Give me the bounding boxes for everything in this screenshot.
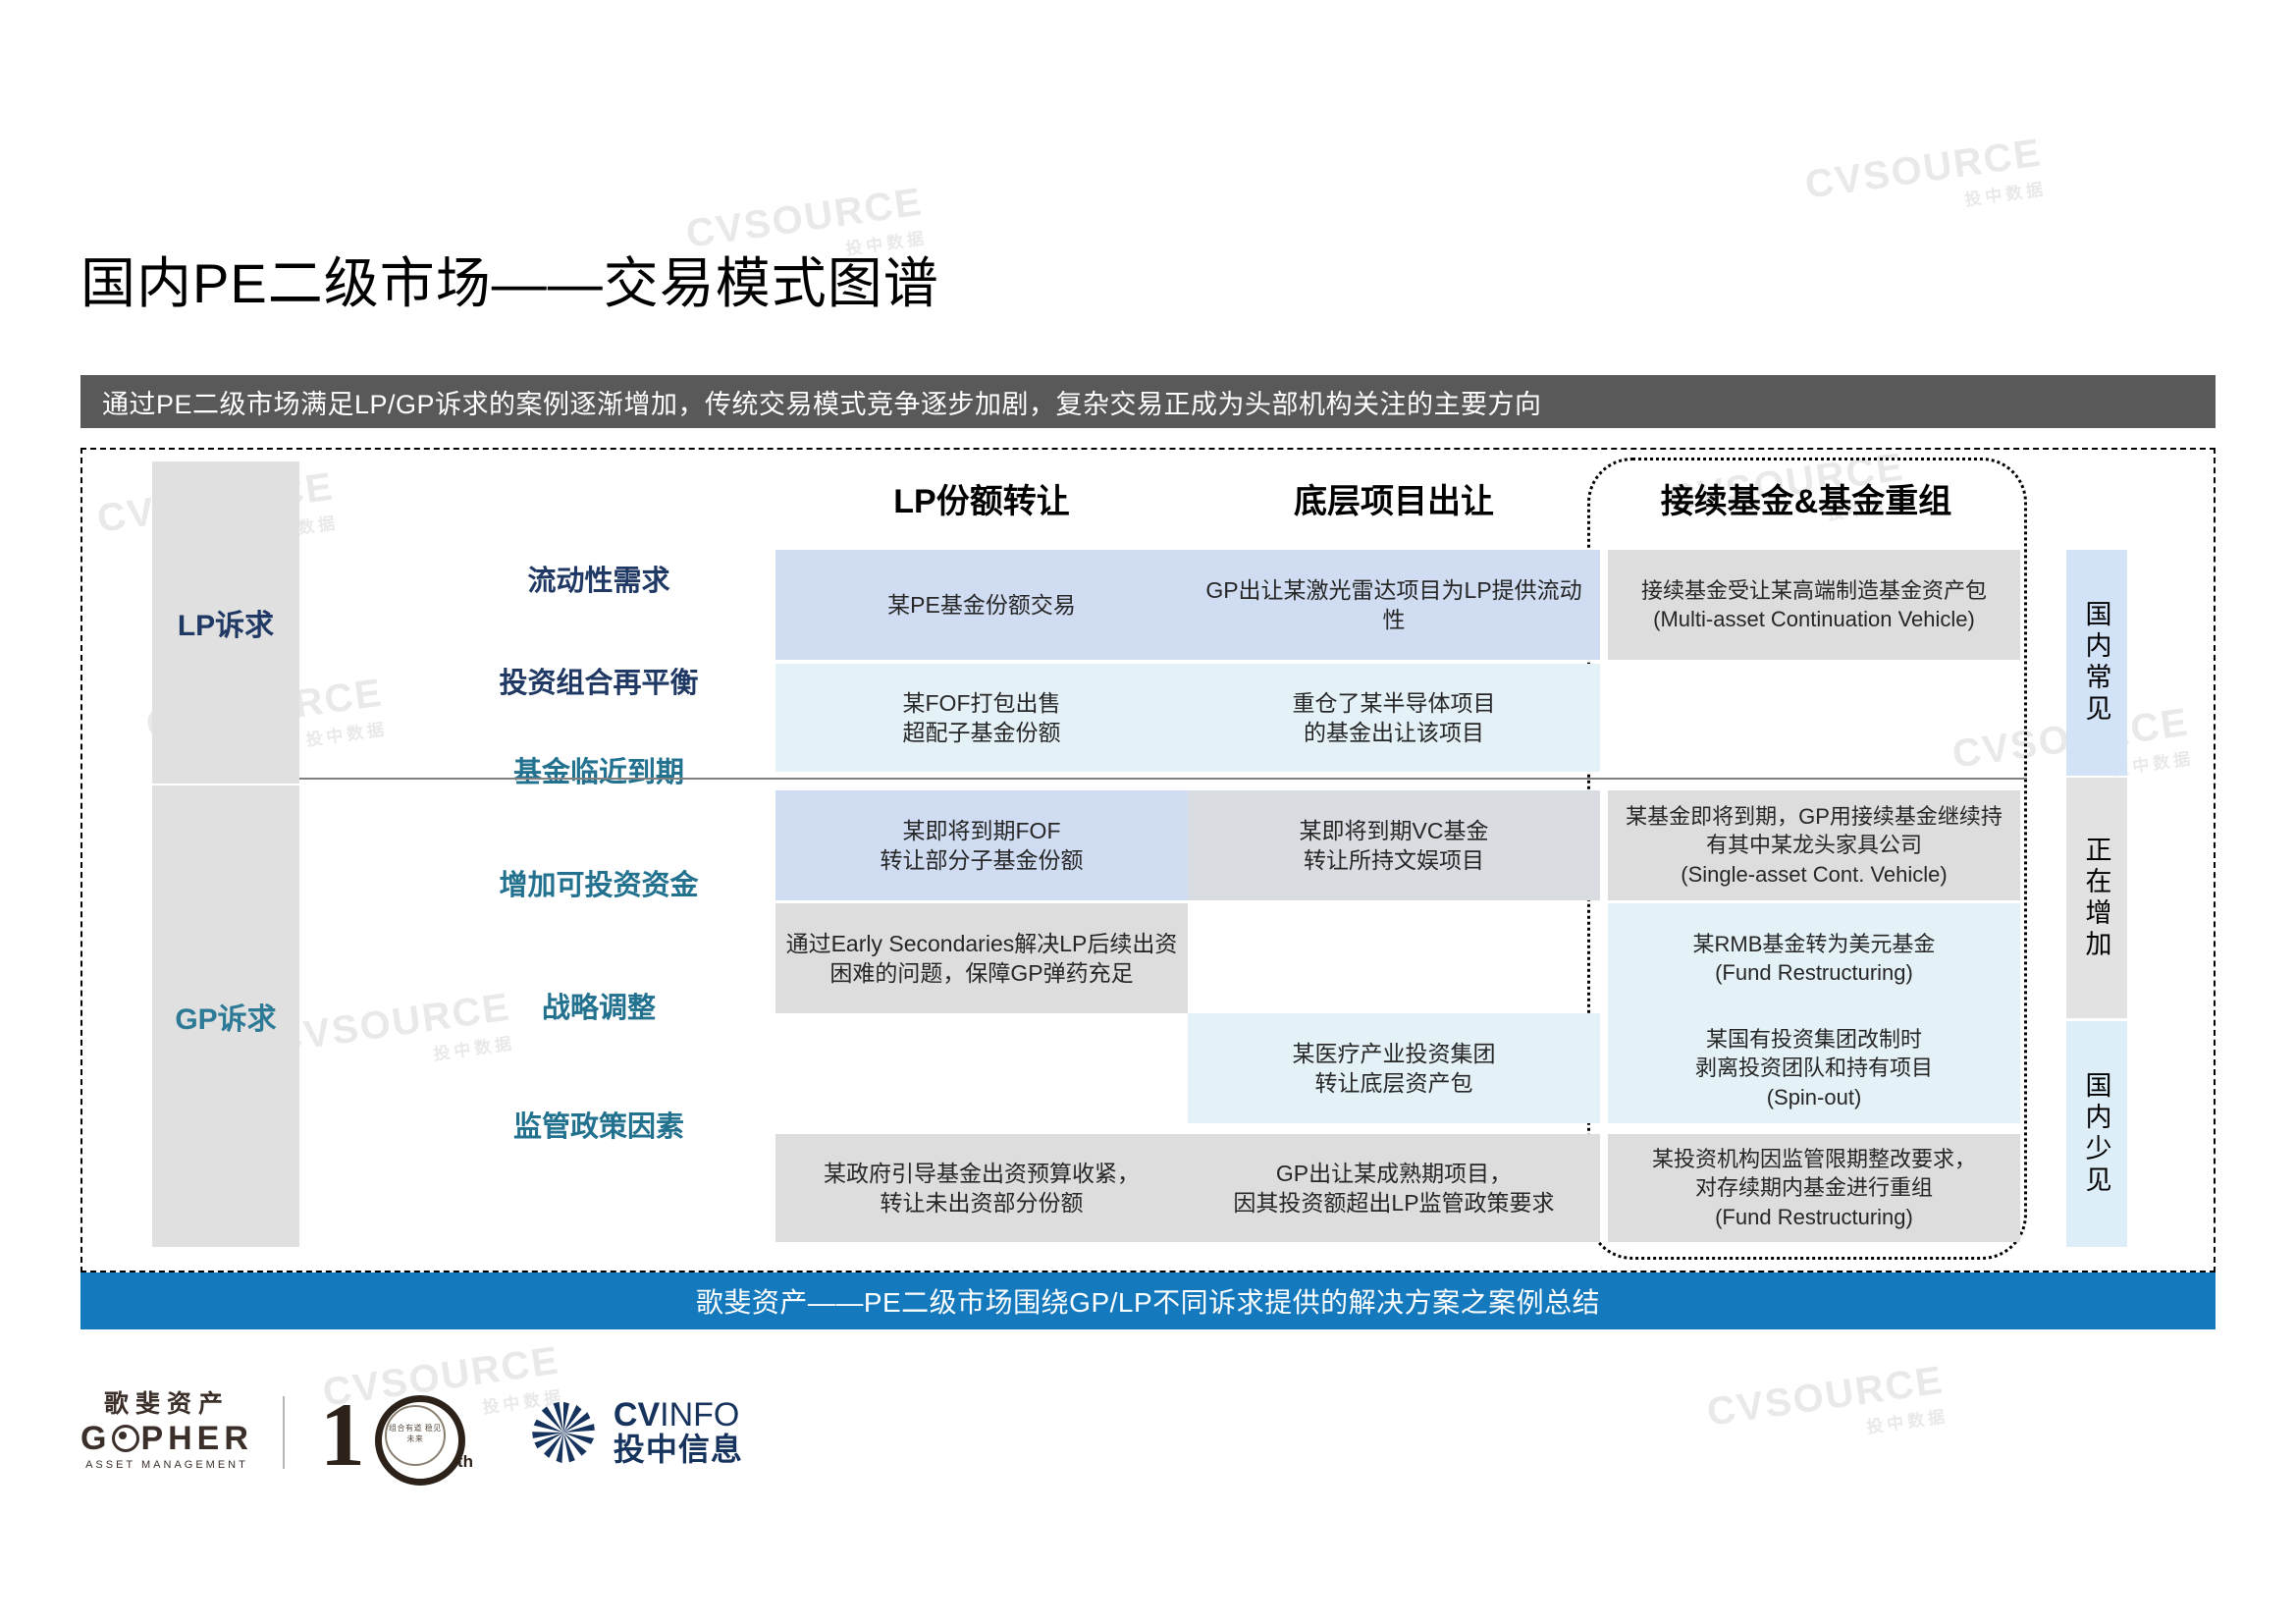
cell-lp-liquidity-col1[interactable]: 某PE基金份额交易 xyxy=(775,550,1188,660)
frequency-label-increasing: 正在增加 xyxy=(2066,778,2127,1018)
section-label-lp-text: LP诉求 xyxy=(178,601,274,644)
gopher-logo-en-left: G xyxy=(80,1419,111,1459)
subtitle-text: 通过PE二级市场满足LP/GP诉求的案例逐渐增加，传统交易模式竞争逐步加剧，复杂… xyxy=(102,383,1542,421)
cvinfo-burst-icon xyxy=(527,1396,600,1469)
row-label-liquidity-demand: 流动性需求 xyxy=(422,558,775,599)
row-label-portfolio-rebalance: 投资组合再平衡 xyxy=(422,660,775,701)
watermark-brand-cn: 投中数据 xyxy=(1809,175,2049,233)
cell-lp-liquidity-col2[interactable]: GP出让某激光雷达项目为LP提供流动性 xyxy=(1188,550,1600,660)
logo-divider xyxy=(283,1396,285,1469)
section-label-lp: LP诉求 xyxy=(152,461,299,784)
cell-gp-maturity-col2[interactable]: 某即将到期VC基金转让所持文娱项目 xyxy=(1188,790,1600,900)
watermark: CVSOURCE 投中数据 xyxy=(1704,1358,1949,1459)
row-label-strategy-adjust: 战略调整 xyxy=(422,985,775,1026)
page-title: 国内PE二级市场——交易模式图谱 xyxy=(80,253,939,314)
gopher-o-icon xyxy=(112,1425,139,1452)
cell-lp-rebalance-col1[interactable]: 某FOF打包出售超配子基金份额 xyxy=(775,664,1188,772)
cvinfo-logo-en-thin: INFO xyxy=(660,1396,739,1434)
anniversary-suffix: th xyxy=(457,1452,473,1472)
watermark-brand-cn: 投中数据 xyxy=(1711,1402,1950,1460)
row-label-regulatory-policy: 监管政策因素 xyxy=(422,1104,775,1145)
cvinfo-logo-cn: 投中信息 xyxy=(614,1434,743,1467)
bottom-banner: 歌斐资产——PE二级市场围绕GP/LP不同诉求提供的解决方案之案例总结 xyxy=(80,1272,2216,1329)
gopher-logo-en-right: PHER xyxy=(140,1419,252,1459)
section-divider xyxy=(299,778,2027,780)
row-label-increase-capital: 增加可投资资金 xyxy=(422,862,775,903)
cell-gp-maturity-col3[interactable]: 某基金即将到期，GP用接续基金继续持有其中某龙头家具公司(Single-asse… xyxy=(1608,790,2020,900)
cvinfo-logo: CVINFO 投中信息 xyxy=(527,1396,743,1469)
cell-gp-capital-col1[interactable]: 通过Early Secondaries解决LP后续出资困难的问题，保障GP弹药充… xyxy=(775,903,1188,1013)
gopher-logo-en: G PHER xyxy=(80,1419,253,1459)
cvinfo-logo-en-bold: CV xyxy=(614,1396,660,1434)
gopher-logo-cn: 歌斐资产 xyxy=(104,1391,230,1419)
column-header-lp-share-transfer: LP份额转让 xyxy=(775,474,1188,522)
section-label-gp: GP诉求 xyxy=(152,785,299,1247)
footer-logos: 歌斐资产 G PHER ASSET MANAGEMENT 1 组合有道 稳见未来… xyxy=(80,1379,743,1487)
cell-gp-regulatory-col3[interactable]: 某投资机构因监管限期整改要求，对存续期内基金进行重组(Fund Restruct… xyxy=(1608,1134,2020,1242)
cell-gp-regulatory-col1[interactable]: 某政府引导基金出资预算收紧，转让未出资部分份额 xyxy=(775,1134,1188,1242)
watermark-brand: CVSOURCE xyxy=(1802,131,2045,207)
cell-gp-regulatory-col2[interactable]: GP出让某成熟期项目，因其投资额超出LP监管政策要求 xyxy=(1188,1134,1600,1242)
bottom-banner-text: 歌斐资产——PE二级市场围绕GP/LP不同诉求提供的解决方案之案例总结 xyxy=(696,1281,1600,1321)
cvinfo-logo-text: CVINFO 投中信息 xyxy=(614,1398,743,1466)
cell-gp-maturity-col1[interactable]: 某即将到期FOF转让部分子基金份额 xyxy=(775,790,1188,900)
cell-gp-strategy-col2[interactable]: 某医疗产业投资集团转让底层资产包 xyxy=(1188,1013,1600,1123)
cell-lp-liquidity-col3[interactable]: 接续基金受让某高端制造基金资产包(Multi-asset Continuatio… xyxy=(1608,550,2020,660)
column-header-continuation-fund: 接续基金&基金重组 xyxy=(1600,474,2012,522)
watermark-brand: CVSOURCE xyxy=(1704,1358,1947,1435)
subtitle-banner: 通过PE二级市场满足LP/GP诉求的案例逐渐增加，传统交易模式竞争逐步加剧，复杂… xyxy=(80,375,2216,428)
watermark: CVSOURCE 投中数据 xyxy=(1802,131,2048,232)
frequency-label-common: 国内常见 xyxy=(2066,550,2127,776)
cell-gp-strategy-col3[interactable]: 某国有投资集团改制时剥离投资团队和持有项目(Spin-out) xyxy=(1608,1013,2020,1123)
anniversary-logo: 1 组合有道 稳见未来 th xyxy=(314,1385,486,1480)
column-header-underlying-asset-sale: 底层项目出让 xyxy=(1188,474,1600,522)
row-label-fund-near-maturity: 基金临近到期 xyxy=(422,749,775,790)
gopher-logo: 歌斐资产 G PHER ASSET MANAGEMENT xyxy=(80,1391,253,1474)
gopher-logo-tagline: ASSET MANAGEMENT xyxy=(85,1458,248,1473)
anniversary-number: 1 xyxy=(320,1389,365,1480)
section-label-gp-text: GP诉求 xyxy=(175,995,276,1038)
cvinfo-logo-en: CVINFO xyxy=(614,1398,743,1434)
frequency-label-rare: 国内少见 xyxy=(2066,1021,2127,1247)
anniversary-slogan: 组合有道 稳见未来 xyxy=(387,1423,444,1444)
cell-lp-rebalance-col2[interactable]: 重仓了某半导体项目的基金出让该项目 xyxy=(1188,664,1600,772)
watermark-brand: CVSOURCE xyxy=(683,180,926,256)
cell-gp-capital-col3[interactable]: 某RMB基金转为美元基金(Fund Restructuring) xyxy=(1608,903,2020,1013)
